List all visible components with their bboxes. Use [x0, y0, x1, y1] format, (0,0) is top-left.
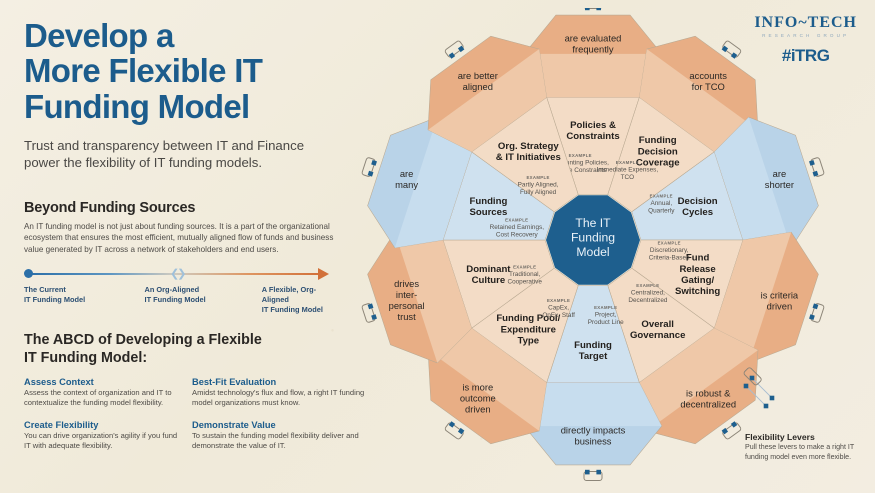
abcd-title-line-2: IT Funding Model: — [24, 350, 354, 368]
segment-lever-text: accountsfor TCO — [689, 70, 727, 92]
segment-category-label: Policies &Constraints — [566, 120, 619, 142]
page-subtitle-line-1: Trust and transparency between IT and Fi… — [24, 137, 354, 154]
spectrum-stage-1-line-1: The Current — [24, 285, 145, 295]
page-subtitle: Trust and transparency between IT and Fi… — [24, 137, 354, 172]
spectrum-bar: ❮❯ — [24, 268, 329, 280]
abcd-item-desc: Assess the context of organization and I… — [24, 388, 184, 409]
wheel-hub-label: The ITFundingModel — [571, 216, 615, 259]
spectrum-start-dot-icon — [24, 269, 33, 278]
lever-knob-left[interactable] — [449, 52, 455, 58]
beyond-section-body: An IT funding model is not just about fu… — [24, 221, 354, 256]
flexibility-lever-icon[interactable] — [444, 40, 465, 59]
spectrum-stage-3-line-2: IT Funding Model — [262, 305, 329, 315]
spectrum-stage-3-line-1: A Flexible, Org-Aligned — [262, 285, 329, 305]
spectrum-labels: The Current IT Funding Model An Org-Alig… — [24, 285, 329, 315]
flexibility-lever-icon[interactable] — [809, 302, 825, 322]
spectrum-stage-1-line-2: IT Funding Model — [24, 295, 145, 305]
page-title-line-1: Develop a — [24, 18, 354, 53]
spectrum-stage-2: An Org-Aligned IT Funding Model — [145, 285, 262, 315]
segment-category-label: FundingTarget — [574, 340, 612, 362]
abcd-item-key: Best-Fit Evaluation — [192, 377, 367, 387]
page-title-line-3: Funding Model — [24, 89, 354, 124]
connector-dot — [744, 384, 749, 389]
lever-knob-right[interactable] — [371, 160, 377, 166]
abcd-items-grid: Assess Context Assess the context of org… — [24, 377, 354, 452]
it-funding-model-wheel: Policies &Constraintsare evaluatedfreque… — [348, 8, 853, 488]
abcd-section: The ABCD of Developing a Flexible IT Fun… — [24, 332, 354, 452]
abcd-item-key: Assess Context — [24, 377, 184, 387]
callout-body-line-2: funding model even more flexible. — [745, 453, 870, 463]
flexibility-lever-icon[interactable] — [444, 421, 465, 440]
example-values: Annual,Quarterly — [648, 200, 675, 214]
abcd-title-line-1: The ABCD of Developing a Flexible — [24, 332, 354, 350]
segment-lever-text: are betteraligned — [458, 70, 498, 92]
abcd-item-assess-context: Assess Context Assess the context of org… — [24, 377, 184, 409]
wheel-svg: Policies &Constraintsare evaluatedfreque… — [348, 8, 853, 488]
segment-category-label: DominantCulture — [466, 264, 511, 286]
abcd-item-key: Create Flexibility — [24, 420, 184, 430]
page-subtitle-line-2: power the flexibility of IT funding mode… — [24, 154, 354, 171]
page-title: Develop a More Flexible IT Funding Model — [24, 18, 354, 124]
abcd-section-title: The ABCD of Developing a Flexible IT Fun… — [24, 332, 354, 368]
lever-knob-left[interactable] — [371, 314, 377, 320]
spectrum-stage-3: A Flexible, Org-Aligned IT Funding Model — [262, 285, 329, 315]
left-content-column: Develop a More Flexible IT Funding Model… — [24, 18, 354, 451]
example-label: EXAMPLE — [505, 218, 528, 223]
spectrum-stage-2-line-1: An Org-Aligned — [145, 285, 262, 295]
lever-knob-right[interactable] — [449, 421, 455, 427]
example-values: Traditional,Cooperative — [507, 271, 542, 285]
connector-dot — [750, 376, 755, 381]
example-label: EXAMPLE — [594, 305, 617, 310]
segment-category-label: Org. Strategy& IT Initiatives — [496, 141, 561, 163]
lever-knob-left[interactable] — [813, 303, 819, 309]
abcd-item-key: Demonstrate Value — [192, 420, 367, 430]
example-label: EXAMPLE — [547, 298, 570, 303]
example-label: EXAMPLE — [636, 283, 659, 288]
abcd-item-desc: To sustain the funding model flexibility… — [192, 431, 367, 452]
lever-knob-right[interactable] — [585, 470, 590, 475]
lever-knob-left[interactable] — [731, 421, 737, 427]
example-values: Discretionary,Criteria-Based — [649, 247, 690, 261]
example-values: Centralized,Decentralized — [628, 290, 668, 304]
segment-lever-text: is robust &decentralized — [680, 387, 736, 409]
flexibility-lever-icon[interactable] — [362, 157, 378, 177]
example-label: EXAMPLE — [569, 153, 592, 158]
abcd-item-demonstrate-value: Demonstrate Value To sustain the funding… — [192, 420, 367, 452]
segment-example: EXAMPLEAnnual,Quarterly — [648, 193, 675, 214]
example-label: EXAMPLE — [650, 193, 673, 198]
segment-lever-text: are evaluatedfrequently — [565, 33, 622, 55]
segment-lever-text: is moreoutcomedriven — [460, 382, 496, 415]
example-label: EXAMPLE — [513, 265, 536, 270]
abcd-item-desc: Amidst technology's flux and flow, a rig… — [192, 388, 367, 409]
lever-knob-right[interactable] — [813, 171, 819, 177]
spectrum-stage-2-line-2: IT Funding Model — [145, 295, 262, 305]
spectrum-stage-1: The Current IT Funding Model — [24, 285, 145, 315]
flexibility-lever-icon[interactable] — [721, 421, 742, 440]
lever-knob-right[interactable] — [731, 52, 737, 58]
example-label: EXAMPLE — [658, 240, 681, 245]
flexibility-lever-icon[interactable] — [584, 470, 602, 481]
maturity-spectrum: ❮❯ The Current IT Funding Model An Org-A… — [24, 268, 329, 315]
connector-dot — [770, 396, 775, 401]
lever-knob-left[interactable] — [585, 8, 590, 10]
example-label: EXAMPLE — [526, 175, 549, 180]
segment-category-label: FundingDecisionCoverage — [636, 135, 680, 168]
callout-body: Pull these levers to make a right IT fun… — [745, 443, 870, 462]
beyond-funding-sources-section: Beyond Funding Sources An IT funding mod… — [24, 200, 354, 315]
beyond-section-heading: Beyond Funding Sources — [24, 200, 354, 216]
lever-knob-right[interactable] — [809, 314, 815, 320]
abcd-item-desc: You can drive organization's agility if … — [24, 431, 184, 452]
spectrum-midpoint-marker-icon: ❮❯ — [170, 268, 183, 280]
abcd-item-create-flexibility: Create Flexibility You can drive organiz… — [24, 420, 184, 452]
example-values: Partly Aligned,Fully Aligned — [518, 182, 559, 196]
lever-knob-right[interactable] — [596, 8, 601, 10]
connector-dot — [764, 404, 769, 409]
callout-body-line-1: Pull these levers to make a right IT — [745, 443, 870, 453]
flexibility-levers-callout: Flexibility Levers Pull these levers to … — [745, 432, 870, 462]
segment-category-label: FundingSources — [469, 196, 507, 218]
flexibility-lever-icon[interactable] — [362, 302, 378, 322]
lever-knob-left[interactable] — [596, 470, 601, 475]
spectrum-arrow-icon — [318, 268, 329, 280]
flexibility-lever-icon[interactable] — [721, 40, 742, 59]
flexibility-lever-icon[interactable] — [584, 8, 602, 10]
page-title-line-2: More Flexible IT — [24, 53, 354, 88]
lever-knob-left[interactable] — [368, 171, 374, 177]
abcd-item-best-fit-evaluation: Best-Fit Evaluation Amidst technology's … — [192, 377, 367, 409]
example-label: EXAMPLE — [616, 160, 639, 165]
flexibility-lever-icon[interactable] — [809, 157, 825, 177]
callout-title: Flexibility Levers — [745, 432, 870, 442]
segment-category-label: DecisionCycles — [678, 196, 718, 218]
lever-knob-right[interactable] — [368, 303, 374, 309]
lever-knob-left[interactable] — [809, 160, 815, 166]
example-values: Retained Earnings,Cost Recovery — [490, 224, 545, 238]
